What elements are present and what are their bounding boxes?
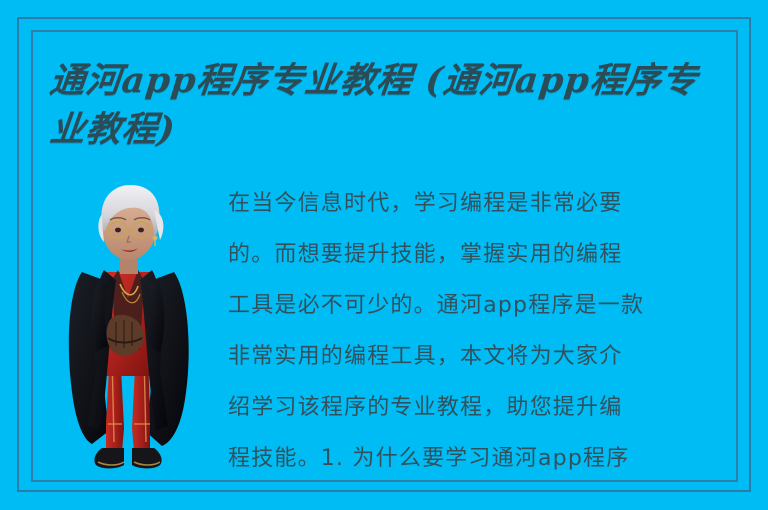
body-line-4: 非常实用的编程工具，本文将为大家介 — [228, 331, 726, 382]
page-title: 通河app程序专业教程 (通河app程序专 业教程) — [50, 56, 718, 154]
title-line-2: 业教程) — [47, 105, 720, 154]
character-illustration — [58, 180, 198, 472]
body-paragraph: 在当今信息时代，学习编程是非常必要 的。而想要提升技能，掌握实用的编程 工具是必… — [228, 178, 726, 484]
body-line-6: 程技能。1. 为什么要学习通河app程序 — [228, 433, 726, 484]
body-line-3: 工具是必不可少的。通河app程序是一款 — [228, 280, 726, 331]
body-line-5: 绍学习该程序的专业教程，助您提升编 — [228, 382, 726, 433]
body-line-1: 在当今信息时代，学习编程是非常必要 — [228, 178, 726, 229]
title-line-1: 通河app程序专业教程 (通河app程序专 — [47, 56, 720, 105]
poster-canvas: 通河app程序专业教程 (通河app程序专 业教程) — [0, 0, 768, 510]
body-line-2: 的。而想要提升技能，掌握实用的编程 — [228, 229, 726, 280]
